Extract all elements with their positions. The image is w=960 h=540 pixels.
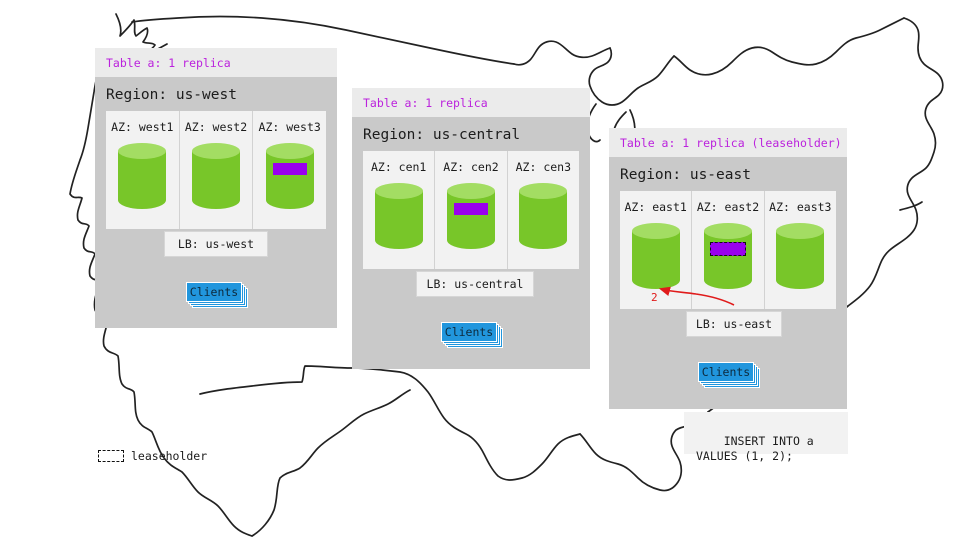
legend-leaseholder: leaseholder: [98, 449, 207, 463]
az-label: AZ: west3: [259, 120, 321, 134]
lb-label: LB: us-east: [696, 317, 772, 331]
load-balancer-us-east[interactable]: LB: us-east: [686, 311, 782, 337]
clients-stack-us-east[interactable]: Clients: [698, 362, 756, 384]
table-replica-label: Table a: 1 replica: [363, 96, 488, 110]
cylinder-body: [704, 231, 752, 289]
table-replica-label: Table a: 1 replica (leaseholder): [620, 136, 842, 150]
load-balancer-us-west[interactable]: LB: us-west: [164, 231, 268, 257]
cylinder-body: [192, 151, 240, 209]
region-header-us-central: Table a: 1 replica: [352, 88, 590, 117]
region-title: Region: us-central: [352, 117, 590, 151]
az-label: AZ: east3: [769, 200, 831, 214]
az-label: AZ: cen1: [371, 160, 426, 174]
diagram-canvas: Table a: 1 replica Region: us-west AZ: w…: [0, 0, 960, 540]
range-replica-marker: [273, 163, 307, 175]
clients-label: Clients: [702, 365, 750, 379]
cylinder-top: [447, 183, 495, 199]
node-cylinder-cen1[interactable]: [375, 183, 423, 253]
node-cylinder-west3[interactable]: [266, 143, 314, 213]
region-panel-us-central: Table a: 1 replica Region: us-central AZ…: [352, 88, 590, 369]
clients-stack-us-central[interactable]: Clients: [441, 322, 499, 344]
sql-statement-box: INSERT INTO a VALUES (1, 2);: [684, 412, 848, 454]
clients-button[interactable]: Clients: [186, 282, 242, 302]
region-header-us-west: Table a: 1 replica: [95, 48, 337, 77]
clients-button[interactable]: Clients: [441, 322, 497, 342]
node-cylinder-east2[interactable]: [704, 223, 752, 293]
az-label: AZ: cen3: [516, 160, 571, 174]
cylinder-top: [192, 143, 240, 159]
cylinder-top: [776, 223, 824, 239]
range-replica-marker: [454, 203, 488, 215]
az-label: AZ: east2: [697, 200, 759, 214]
cylinder-top: [118, 143, 166, 159]
az-east3[interactable]: AZ: east3: [764, 191, 836, 309]
table-replica-label: Table a: 1 replica: [106, 56, 231, 70]
node-cylinder-east3[interactable]: [776, 223, 824, 293]
cylinder-top: [266, 143, 314, 159]
leaseholder-range-marker: [710, 242, 746, 256]
cylinder-body: [776, 231, 824, 289]
clients-stack-us-west[interactable]: Clients: [186, 282, 244, 304]
cylinder-top: [519, 183, 567, 199]
az-cen3[interactable]: AZ: cen3: [507, 151, 579, 269]
node-cylinder-west2[interactable]: [192, 143, 240, 213]
cylinder-body: [447, 191, 495, 249]
az-label: AZ: cen2: [443, 160, 498, 174]
load-balancer-us-central[interactable]: LB: us-central: [416, 271, 534, 297]
arrow-step-label: 2: [651, 291, 658, 304]
cylinder-top: [704, 223, 752, 239]
cylinder-body: [118, 151, 166, 209]
az-east2[interactable]: AZ: east2: [691, 191, 763, 309]
legend-label: leaseholder: [131, 449, 207, 463]
az-container-us-central: AZ: cen1 AZ: cen2 AZ: cen3: [363, 151, 579, 269]
az-west1[interactable]: AZ: west1: [106, 111, 179, 229]
node-cylinder-east1[interactable]: [632, 223, 680, 293]
clients-label: Clients: [445, 325, 493, 339]
az-label: AZ: west1: [111, 120, 173, 134]
cylinder-body: [519, 191, 567, 249]
node-cylinder-cen3[interactable]: [519, 183, 567, 253]
cylinder-top: [375, 183, 423, 199]
cylinder-body: [632, 231, 680, 289]
clients-button[interactable]: Clients: [698, 362, 754, 382]
cylinder-body: [266, 151, 314, 209]
az-label: AZ: west2: [185, 120, 247, 134]
lb-label: LB: us-central: [427, 277, 524, 291]
cylinder-body: [375, 191, 423, 249]
lb-label: LB: us-west: [178, 237, 254, 251]
node-cylinder-west1[interactable]: [118, 143, 166, 213]
region-title: Region: us-west: [95, 77, 337, 111]
az-cen1[interactable]: AZ: cen1: [363, 151, 434, 269]
region-panel-us-east: Table a: 1 replica (leaseholder) Region:…: [609, 128, 847, 409]
region-title: Region: us-east: [609, 157, 847, 191]
az-container-us-west: AZ: west1 AZ: west2 AZ: west3: [106, 111, 326, 229]
az-label: AZ: east1: [625, 200, 687, 214]
az-west3[interactable]: AZ: west3: [252, 111, 326, 229]
az-west2[interactable]: AZ: west2: [179, 111, 253, 229]
clients-label: Clients: [190, 285, 238, 299]
cylinder-top: [632, 223, 680, 239]
region-header-us-east: Table a: 1 replica (leaseholder): [609, 128, 847, 157]
az-cen2[interactable]: AZ: cen2: [434, 151, 506, 269]
region-panel-us-west: Table a: 1 replica Region: us-west AZ: w…: [95, 48, 337, 328]
node-cylinder-cen2[interactable]: [447, 183, 495, 253]
dashed-rect-swatch-icon: [98, 450, 124, 462]
